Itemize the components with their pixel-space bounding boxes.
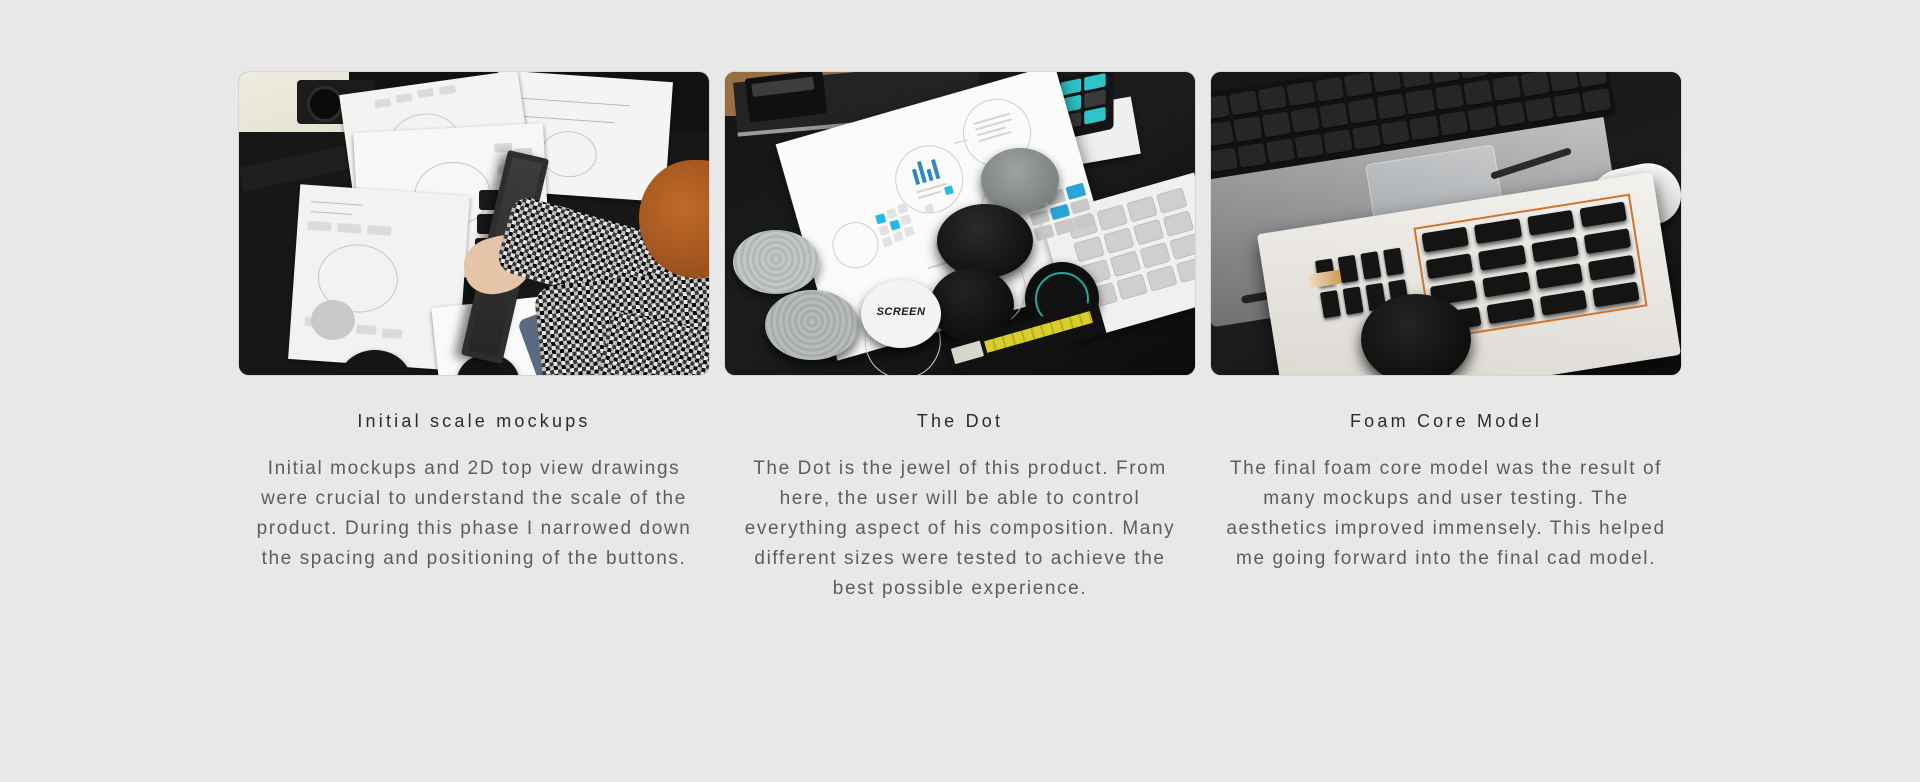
screen-puck-prototype: SCREEN [861,280,941,348]
grey-disc-prototype [981,148,1059,212]
screen-puck-label: SCREEN [861,306,941,318]
the-dot-photo[interactable]: SCREEN [725,72,1195,375]
gallery-card-3: Foam Core Model The final foam core mode… [1211,72,1681,574]
black-disc-prototype [937,204,1033,278]
gallery-card-1: Initial scale mockups Initial mockups an… [239,72,709,574]
foam-model-dot [1361,294,1471,375]
card-body-text: The Dot is the jewel of this product. Fr… [730,454,1190,604]
grey-layered-disc [765,290,859,360]
card-title: Initial scale mockups [357,411,590,432]
product-design-gallery-page: Initial scale mockups Initial mockups an… [0,0,1920,782]
gallery-columns: Initial scale mockups Initial mockups an… [0,0,1920,782]
grey-disc-prototype [311,300,355,340]
card-body-text: Initial mockups and 2D top view drawings… [244,454,704,574]
card-title: The Dot [917,411,1003,432]
card-title: Foam Core Model [1350,411,1542,432]
grey-layered-disc [733,230,819,294]
gallery-card-2: SCREEN The Dot The Dot is the jewel of t… [725,72,1195,604]
initial-scale-mockups-photo[interactable] [239,72,709,375]
foam-core-model-photo[interactable] [1211,72,1681,375]
card-body-text: The final foam core model was the result… [1216,454,1676,574]
